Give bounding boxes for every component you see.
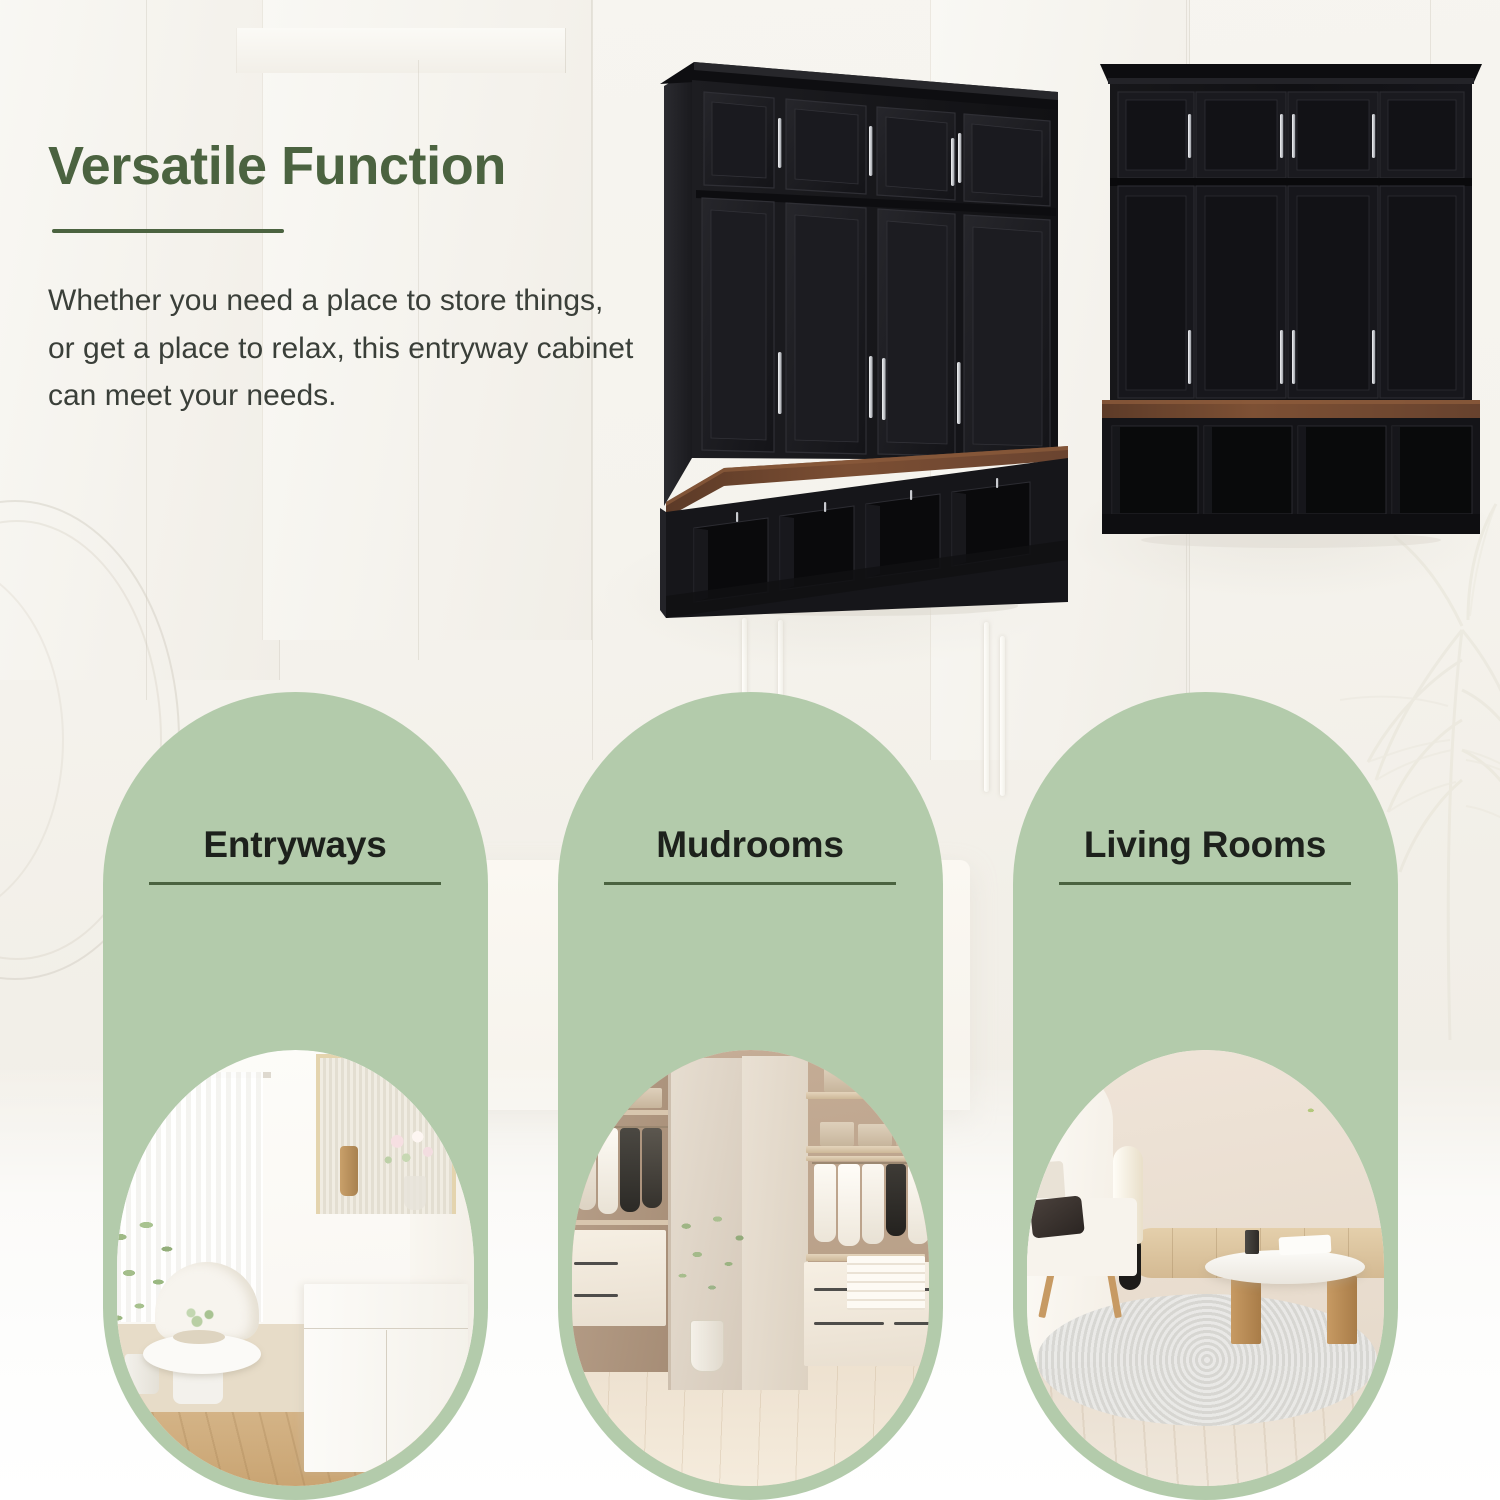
use-case-photo-frame (117, 1050, 474, 1486)
use-case-label: Mudrooms (558, 824, 943, 866)
storage-box (858, 1124, 892, 1146)
background-cabinet-crown (236, 28, 566, 73)
use-case-label: Living Rooms (1013, 824, 1398, 866)
use-case-card-living-rooms[interactable]: Living Rooms (1013, 692, 1398, 1500)
closet-shelf (806, 1092, 925, 1099)
hanging-garment (814, 1164, 836, 1242)
use-case-card-mudrooms[interactable]: Mudrooms (558, 692, 943, 1500)
drawer-pull (814, 1322, 884, 1325)
flower-bouquet (378, 1124, 442, 1182)
use-case-photo-frame (572, 1050, 929, 1486)
drawer-pull (574, 1294, 618, 1297)
hanging-garment (576, 1128, 596, 1210)
brass-vase (340, 1146, 358, 1196)
hanging-garment (862, 1164, 884, 1244)
closet-shelf (806, 1146, 925, 1153)
table-greenery (181, 1301, 221, 1335)
use-case-underline (604, 882, 896, 885)
product-image-entryway-cabinet-angled (658, 40, 1070, 620)
tree-branch (1280, 1060, 1384, 1150)
glass-vase (404, 1176, 426, 1210)
hanging-garment (642, 1128, 662, 1208)
cream-entry-cabinet (304, 1284, 468, 1472)
closet-shelf (572, 1220, 670, 1225)
closet-shelf (572, 1110, 670, 1115)
use-case-card-entryways[interactable]: Entryways (103, 692, 488, 1500)
coffee-table-leg (1231, 1276, 1261, 1344)
closet-shelf (806, 1156, 925, 1161)
mudroom-closet-photo (572, 1050, 929, 1486)
storage-box (824, 1068, 864, 1092)
storage-box (576, 1084, 618, 1108)
glass-vase (690, 1320, 724, 1372)
use-case-pills: Entryways (0, 692, 1500, 1500)
drawer-pull (894, 1322, 929, 1325)
storage-box (896, 1124, 928, 1146)
use-case-label: Entryways (103, 824, 488, 866)
hanging-garment (908, 1164, 929, 1244)
folded-towels (847, 1256, 925, 1310)
storage-box (622, 1088, 662, 1108)
hanging-garment (886, 1164, 906, 1236)
round-coffee-table (1205, 1250, 1365, 1284)
page-title: Versatile Function (48, 138, 648, 195)
use-case-photo-frame (1027, 1050, 1384, 1486)
hanging-garment (620, 1128, 640, 1212)
vase-branches (666, 1212, 758, 1330)
hanging-garment (598, 1128, 618, 1214)
copy-block: Versatile Function Whether you need a pl… (48, 138, 648, 419)
storage-box (868, 1070, 906, 1092)
drawer-pull (574, 1262, 618, 1265)
product-image-entryway-cabinet-front (1098, 58, 1484, 550)
use-case-underline (149, 882, 441, 885)
use-case-underline (1059, 882, 1351, 885)
body-paragraph: Whether you need a place to store things… (48, 277, 638, 419)
open-book (1278, 1235, 1331, 1256)
hanging-garment (838, 1164, 860, 1246)
entryway-room-photo (117, 1050, 474, 1486)
storage-box (820, 1122, 854, 1146)
cup-on-table (1245, 1230, 1259, 1254)
coffee-table-leg (1327, 1276, 1357, 1344)
dark-throw-pillow (1029, 1195, 1085, 1238)
braided-round-rug (1037, 1294, 1377, 1426)
closet-drawers (572, 1230, 666, 1326)
title-underline (52, 229, 284, 233)
living-room-photo (1027, 1050, 1384, 1486)
